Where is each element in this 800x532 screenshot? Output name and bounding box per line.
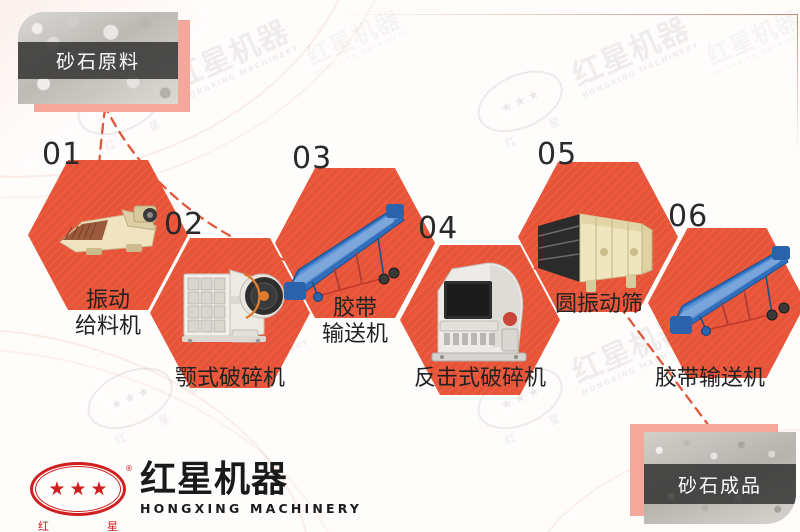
watermark-mark-left: 红 — [102, 135, 119, 154]
flow-diagram-canvas: ★ ★ ★ 红 星 红星机器 HONGXING MACHINERY ★ ★ ★ … — [0, 0, 800, 532]
raw-material-caption-band: 砂石原料 — [18, 42, 178, 79]
registered-mark: ® — [125, 464, 133, 473]
watermark-mark-right: 星 — [546, 113, 563, 132]
star-icon: ★ — [122, 390, 138, 407]
star-icon: ★ — [91, 480, 108, 499]
logo-cn-name: 红星机器 — [140, 462, 362, 498]
watermark-mark-left: 红 — [112, 429, 129, 448]
star-icon: ★ — [69, 480, 86, 499]
watermark-wordmark: 红星机器 HONGXING MACHINERY — [700, 0, 800, 77]
logo-sub-marks: 红 星 — [30, 518, 126, 532]
logo-stars: ★ ★ ★ — [30, 462, 126, 516]
finished-product-image: 砂石成品 — [644, 432, 796, 524]
watermark-oval: ★ ★ ★ — [468, 58, 572, 144]
watermark-cn: 红星机器 — [567, 11, 695, 93]
logo-wordmark: 红星机器 HONGXING MACHINERY — [140, 462, 362, 516]
watermark-mark-right: 星 — [146, 116, 163, 135]
watermark-en: HONGXING MACHINERY — [580, 40, 700, 100]
raw-material-image: 砂石原料 — [18, 12, 178, 104]
star-icon: ★ — [48, 480, 65, 499]
step-label-06: 胶带输送机 — [620, 366, 800, 392]
watermark-mark-right: 星 — [156, 410, 173, 429]
logo-mark-left: 红 — [38, 518, 49, 532]
watermark-en: HONGXING MACHINERY — [713, 28, 800, 76]
brand-logo: ★ ★ ★ ® 红 星 红星机器 HONGXING MACHINERY — [30, 462, 362, 516]
step-label-04: 反击式破碎机 — [378, 366, 582, 392]
watermark-cn: 红星机器 — [303, 5, 405, 71]
step-number-06: 06 — [668, 202, 708, 232]
star-icon: ★ — [109, 396, 125, 413]
logo-mark-right: 星 — [107, 518, 118, 532]
watermark-mark-right: 星 — [546, 410, 563, 429]
step-label-02: 颚式破碎机 — [130, 366, 330, 392]
watermark-mark-left: 红 — [502, 429, 519, 448]
watermark-wordmark: 红星机器 HONGXING MACHINERY — [564, 3, 701, 101]
watermark-en: HONGXING MACHINERY — [313, 28, 409, 76]
logo-emblem: ★ ★ ★ ® 红 星 — [30, 462, 126, 516]
raw-material-card: 砂石原料 — [10, 8, 190, 108]
star-icon: ★ — [526, 87, 542, 104]
star-icon: ★ — [512, 93, 528, 110]
watermark-mark-left: 红 — [502, 132, 519, 151]
step-number-04: 04 — [418, 214, 458, 244]
top-border-rule — [330, 14, 798, 15]
step-number-02: 02 — [164, 210, 204, 240]
watermark-cn: 红星机器 — [703, 5, 800, 71]
step-number-05: 05 — [537, 140, 577, 170]
finished-product-caption-band: 砂石成品 — [644, 464, 796, 504]
logo-en-name: HONGXING MACHINERY — [140, 501, 362, 516]
watermark-en: HONGXING MACHINERY — [180, 43, 300, 103]
raw-material-caption: 砂石原料 — [56, 47, 140, 74]
right-border-rule — [797, 14, 798, 154]
finished-product-caption: 砂石成品 — [678, 471, 762, 498]
star-icon: ★ — [499, 396, 515, 413]
finished-product-card: 砂石成品 — [630, 424, 800, 528]
step-number-01: 01 — [42, 140, 82, 170]
star-icon: ★ — [499, 99, 515, 116]
step-number-03: 03 — [292, 144, 332, 174]
watermark-wordmark: 红星机器 HONGXING MACHINERY — [300, 0, 409, 77]
